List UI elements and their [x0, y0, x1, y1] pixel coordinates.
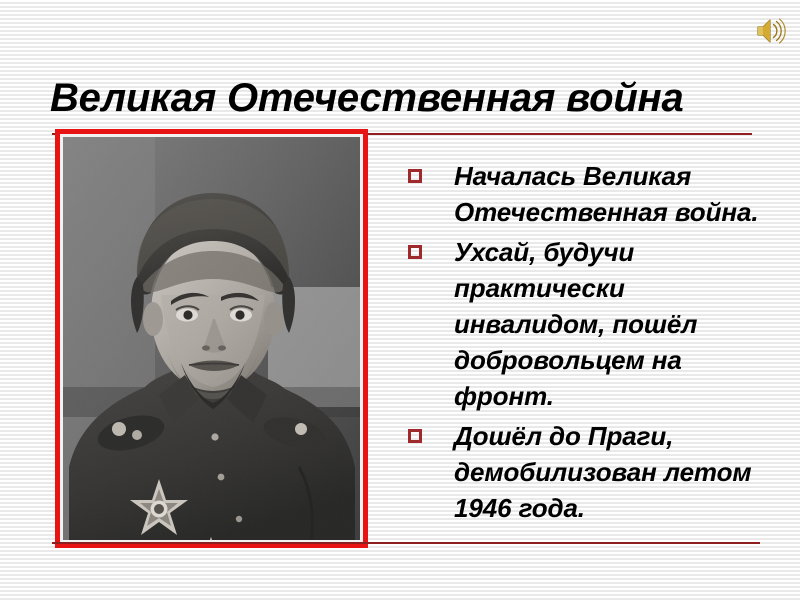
list-item-text: Ухсай, будучи практически инвалидом, пош… — [454, 234, 780, 414]
list-item-text: Началась Великая Отечественная война. — [454, 158, 780, 230]
bottom-divider-rule — [52, 542, 760, 544]
presentation-slide: Великая Отечественная война — [0, 0, 800, 600]
list-item: Началась Великая Отечественная война. — [408, 158, 780, 230]
speaker-sound-icon[interactable] — [752, 12, 790, 50]
hollow-square-bullet-icon — [408, 429, 422, 443]
bullet-list: Началась Великая Отечественная война. Ух… — [408, 158, 780, 530]
list-item: Ухсай, будучи практически инвалидом, пош… — [408, 234, 780, 414]
photo-inner-border — [60, 134, 363, 543]
portrait-photo — [63, 137, 360, 540]
portrait-photo-frame — [55, 129, 368, 548]
list-item-text: Дошёл до Праги, демобилизован летом 1946… — [454, 418, 780, 526]
hollow-square-bullet-icon — [408, 245, 422, 259]
slide-title: Великая Отечественная война — [50, 72, 762, 124]
hollow-square-bullet-icon — [408, 169, 422, 183]
list-item: Дошёл до Праги, демобилизован летом 1946… — [408, 418, 780, 526]
